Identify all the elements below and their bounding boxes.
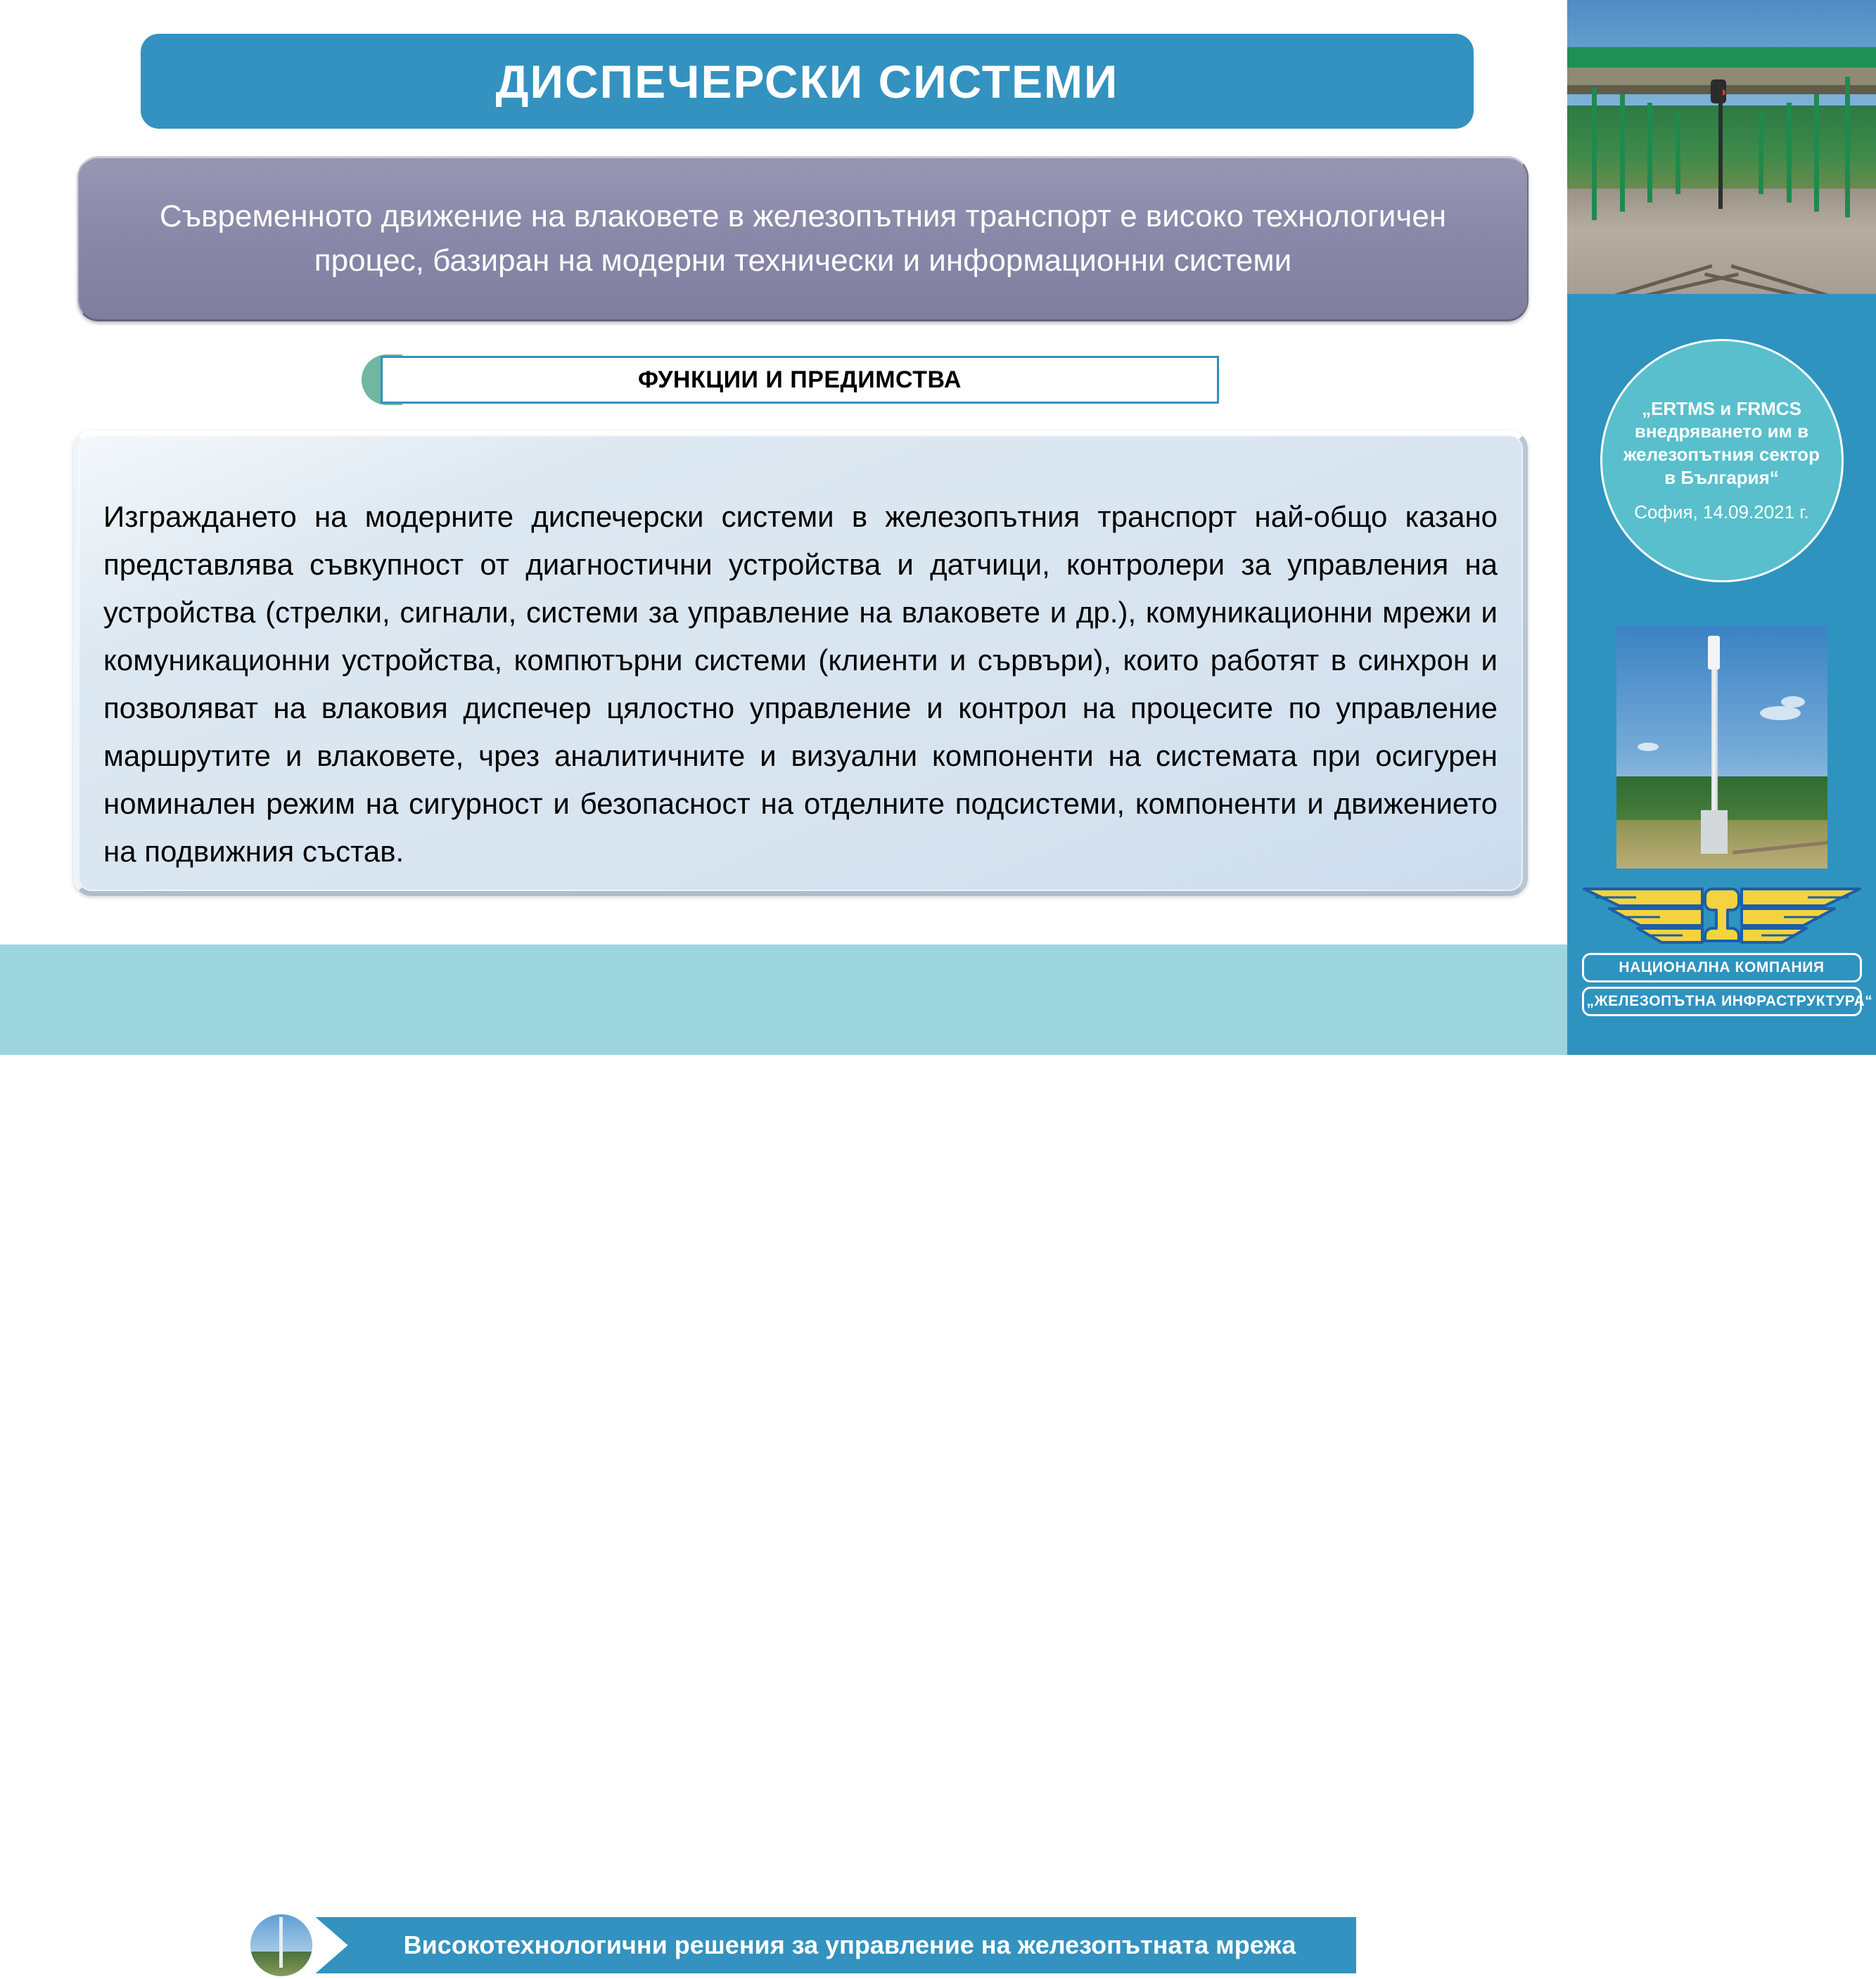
event-title: „ERTMS и FRMCS внедряването им в железоп… bbox=[1618, 397, 1826, 489]
antenna-icon bbox=[1708, 636, 1720, 670]
catenary-mast-icon bbox=[1759, 112, 1763, 194]
event-place-date: София, 14.09.2021 г. bbox=[1634, 501, 1809, 525]
content-body-text: Изграждането на модерните диспечерски си… bbox=[103, 493, 1498, 876]
catenary-mast-icon bbox=[1676, 112, 1680, 194]
footer-band: Високотехнологични решения за управление… bbox=[0, 944, 1567, 1055]
footer-badge-photo bbox=[248, 1911, 315, 1979]
slide-main-area: ДИСПЕЧЕРСКИ СИСТЕМИ Съвременното движени… bbox=[0, 0, 1567, 1055]
slide-root: ДИСПЕЧЕРСКИ СИСТЕМИ Съвременното движени… bbox=[0, 0, 1876, 1055]
badge-mast-icon bbox=[279, 1917, 283, 1968]
cloud-icon bbox=[1781, 696, 1805, 707]
event-circle-badge: „ERTMS и FRMCS внедряването им в железоп… bbox=[1600, 339, 1844, 582]
equipment-cabinet-icon bbox=[1701, 810, 1728, 854]
company-logo: НАЦИОНАЛНА КОМПАНИЯ „ЖЕЛЕЗОПЪТНА ИНФРАСТ… bbox=[1578, 883, 1866, 1016]
logo-name-line1-label: НАЦИОНАЛНА КОМПАНИЯ bbox=[1619, 959, 1824, 975]
section-banner: ФУНКЦИИ И ПРЕДИМСТВА bbox=[381, 356, 1219, 404]
catenary-mast-icon bbox=[1592, 88, 1597, 220]
railway-bridge-green bbox=[1567, 47, 1876, 68]
railway-signal-pole-icon bbox=[1718, 85, 1723, 209]
railway-photo bbox=[1567, 0, 1876, 294]
section-banner-box: ФУНКЦИИ И ПРЕДИМСТВА bbox=[381, 356, 1219, 404]
catenary-mast-icon bbox=[1787, 103, 1792, 203]
logo-name-line1: НАЦИОНАЛНА КОМПАНИЯ bbox=[1582, 953, 1862, 982]
logo-name-line2-label: „ЖЕЛЕЗОПЪТНА ИНФРАСТРУКТУРА“ bbox=[1587, 993, 1873, 1009]
telecom-tower-photo bbox=[1616, 626, 1827, 869]
logo-name-line2: „ЖЕЛЕЗОПЪТНА ИНФРАСТРУКТУРА“ bbox=[1582, 987, 1862, 1016]
subtitle-callout-box: Съвременното движение на влаковете в жел… bbox=[77, 156, 1529, 321]
section-banner-label: ФУНКЦИИ И ПРЕДИМСТВА bbox=[638, 366, 962, 394]
footer-chevron-banner: Високотехнологични решения за управление… bbox=[312, 1914, 1359, 1976]
winged-rail-logo-icon bbox=[1581, 883, 1863, 948]
sidebar: „ERTMS и FRMCS внедряването им в железоп… bbox=[1567, 0, 1876, 1055]
footer-label: Високотехнологични решения за управление… bbox=[376, 1930, 1296, 1960]
cloud-icon bbox=[1638, 743, 1659, 751]
catenary-mast-icon bbox=[1814, 94, 1819, 212]
catenary-mast-icon bbox=[1647, 103, 1652, 203]
catenary-mast-icon bbox=[1845, 77, 1850, 218]
slide-title-bar: ДИСПЕЧЕРСКИ СИСТЕМИ bbox=[141, 34, 1474, 129]
subtitle-text: Съвременното движение на влаковете в жел… bbox=[110, 195, 1496, 283]
content-panel: Изграждането на модерните диспечерски си… bbox=[73, 430, 1528, 896]
cloud-icon bbox=[1760, 706, 1801, 720]
catenary-mast-icon bbox=[1620, 94, 1625, 212]
footer-ribbon: Високотехнологични решения за управление… bbox=[248, 1914, 1359, 1976]
page-title: ДИСПЕЧЕРСКИ СИСТЕМИ bbox=[496, 55, 1119, 108]
